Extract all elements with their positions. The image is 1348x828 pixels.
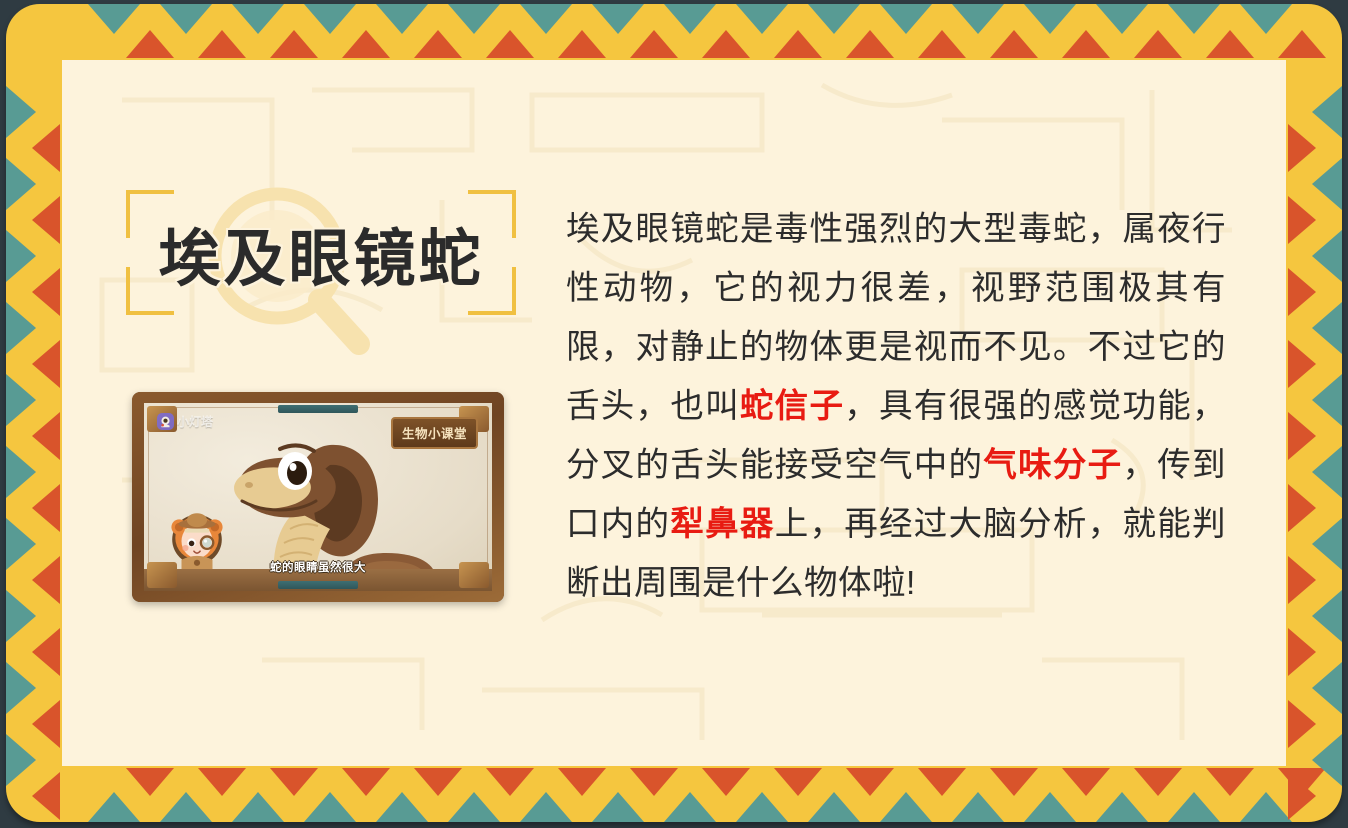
- border-triangle-orange: [558, 30, 606, 58]
- page-title: 埃及眼镜蛇: [126, 190, 516, 315]
- border-triangle-teal: [1096, 792, 1148, 822]
- border-triangle-orange: [630, 30, 678, 58]
- border-triangle-orange: [32, 772, 60, 820]
- border-triangle-teal: [880, 792, 932, 822]
- border-triangle-teal: [952, 792, 1004, 822]
- border-triangle-teal: [232, 792, 284, 822]
- picture-inner: 蛇的眼睛虽然很大 小灯塔: [144, 403, 492, 591]
- border-triangle-orange: [342, 30, 390, 58]
- illustration-card[interactable]: 蛇的眼睛虽然很大 小灯塔: [132, 392, 504, 602]
- border-triangle-teal: [1312, 662, 1342, 714]
- poster-card: 埃及眼镜蛇: [6, 4, 1342, 822]
- border-triangle-orange: [1062, 30, 1110, 58]
- border-triangle-orange: [990, 30, 1038, 58]
- title-block: 埃及眼镜蛇: [126, 190, 516, 315]
- category-badge: 生物小课堂: [391, 417, 478, 449]
- border-triangle-orange: [1206, 30, 1254, 58]
- border-triangle-teal: [88, 792, 140, 822]
- channel-watermark: 小灯塔: [157, 413, 213, 430]
- border-triangle-orange: [126, 30, 174, 58]
- border-triangle-orange: [702, 30, 750, 58]
- content-panel: 埃及眼镜蛇: [62, 60, 1286, 766]
- border-triangle-orange: [918, 30, 966, 58]
- border-triangle-teal: [1312, 590, 1342, 642]
- channel-watermark-label: 小灯塔: [177, 413, 213, 430]
- border-band-right: [1286, 4, 1342, 822]
- border-triangle-teal: [808, 792, 860, 822]
- border-triangle-teal: [376, 792, 428, 822]
- border-triangle-orange: [270, 30, 318, 58]
- border-triangle-orange: [32, 268, 60, 316]
- border-triangle-teal: [1312, 518, 1342, 570]
- border-triangle-orange: [32, 628, 60, 676]
- border-triangle-orange: [414, 30, 462, 58]
- border-triangle-orange: [32, 484, 60, 532]
- border-triangle-teal: [1312, 734, 1342, 786]
- border-triangle-orange: [32, 340, 60, 388]
- border-triangle-teal: [1312, 158, 1342, 210]
- border-triangle-teal: [1240, 792, 1292, 822]
- border-triangle-teal: [664, 792, 716, 822]
- border-triangle-teal: [160, 792, 212, 822]
- border-band-left: [6, 4, 62, 822]
- border-triangle-orange: [486, 30, 534, 58]
- border-triangle-orange: [32, 700, 60, 748]
- border-triangle-teal: [1312, 86, 1342, 138]
- border-triangle-teal: [736, 792, 788, 822]
- border-triangle-orange: [32, 556, 60, 604]
- border-triangle-teal: [304, 792, 356, 822]
- border-triangle-orange: [32, 124, 60, 172]
- article-body: 埃及眼镜蛇是毒性强烈的大型毒蛇，属夜行性动物，它的视力很差，视野范围极其有限，对…: [566, 200, 1226, 613]
- border-band-bottom: [6, 766, 1342, 822]
- body-highlight-term: 气味分子: [983, 447, 1122, 484]
- border-triangle-teal: [1312, 374, 1342, 426]
- frame-edge-top: [278, 405, 358, 413]
- border-triangle-teal: [520, 792, 572, 822]
- border-triangle-teal: [1024, 792, 1076, 822]
- border-triangle-orange: [32, 196, 60, 244]
- border-triangle-orange: [198, 30, 246, 58]
- border-triangle-orange: [774, 30, 822, 58]
- border-triangle-orange: [32, 412, 60, 460]
- frame-edge-bottom: [278, 581, 358, 589]
- border-band-top: [6, 4, 1342, 60]
- photo-subtitle: 蛇的眼睛虽然很大: [144, 559, 492, 575]
- border-triangle-orange: [1134, 30, 1182, 58]
- border-triangle-teal: [448, 792, 500, 822]
- border-triangle-teal: [1168, 792, 1220, 822]
- border-triangle-teal: [1312, 446, 1342, 498]
- border-triangle-orange: [846, 30, 894, 58]
- border-triangle-teal: [1312, 230, 1342, 282]
- border-triangle-orange: [1288, 772, 1316, 820]
- border-triangle-teal: [592, 792, 644, 822]
- app-logo-icon: [157, 413, 174, 430]
- body-highlight-term: 蛇信子: [740, 388, 844, 425]
- body-highlight-term: 犁鼻器: [670, 506, 774, 543]
- border-triangle-teal: [1312, 302, 1342, 354]
